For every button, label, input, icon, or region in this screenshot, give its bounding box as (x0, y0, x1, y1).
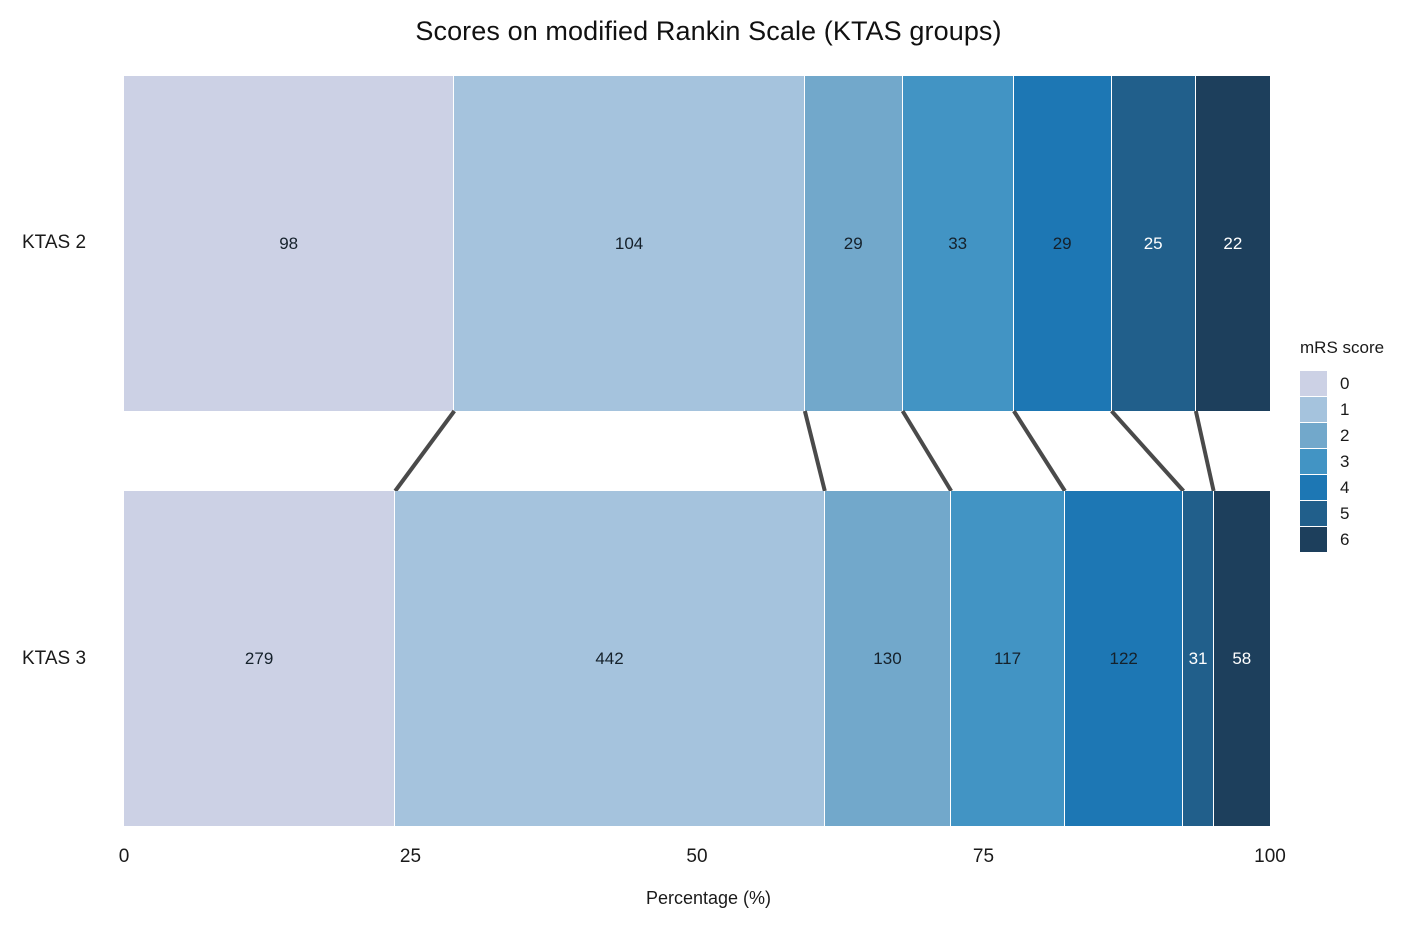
plot-area: 981042933292522 2794421301171223158 (124, 76, 1270, 842)
stacked-bar-ktas3: 2794421301171223158 (124, 491, 1270, 826)
connector-line (395, 411, 454, 491)
bar-segment[interactable]: 22 (1196, 76, 1270, 411)
connector-line (903, 411, 952, 491)
legend-label: 2 (1340, 427, 1349, 444)
chart-title: Scores on modified Rankin Scale (KTAS gr… (0, 16, 1417, 47)
stacked-bar-ktas2: 981042933292522 (124, 76, 1270, 411)
bar-segment-value: 122 (1109, 650, 1137, 667)
bar-segment[interactable]: 442 (395, 491, 825, 826)
legend-swatch (1300, 501, 1327, 526)
bar-segment-value: 58 (1232, 650, 1251, 667)
legend-item[interactable]: 0 (1300, 370, 1410, 396)
connector-line (1196, 411, 1214, 491)
legend-swatch (1300, 423, 1327, 448)
bar-segment-value: 98 (279, 235, 298, 252)
legend-label: 0 (1340, 375, 1349, 392)
legend: mRS score 0123456 (1300, 338, 1410, 552)
bar-segment[interactable]: 29 (805, 76, 903, 411)
x-tick-label: 25 (400, 846, 421, 868)
bar-segment[interactable]: 33 (903, 76, 1014, 411)
legend-items: 0123456 (1300, 370, 1410, 552)
bar-segment[interactable]: 117 (951, 491, 1065, 826)
legend-label: 4 (1340, 479, 1349, 496)
bar-segment[interactable]: 130 (825, 491, 951, 826)
legend-swatch (1300, 475, 1327, 500)
bar-segment-value: 117 (994, 650, 1021, 667)
chart-container: Scores on modified Rankin Scale (KTAS gr… (0, 0, 1417, 927)
bar-segment-value: 25 (1144, 235, 1163, 252)
bar-segment-value: 104 (615, 235, 643, 252)
bar-segment-value: 130 (873, 650, 901, 667)
legend-swatch (1300, 527, 1327, 552)
alluvium-connectors (124, 411, 1270, 491)
bar-segment-value: 442 (595, 650, 623, 667)
legend-item[interactable]: 4 (1300, 474, 1410, 500)
legend-label: 6 (1340, 531, 1349, 548)
legend-swatch (1300, 397, 1327, 422)
legend-title: mRS score (1300, 338, 1410, 358)
bar-segment-value: 279 (245, 650, 273, 667)
bar-segment[interactable]: 29 (1014, 76, 1112, 411)
bar-segment-value: 22 (1223, 235, 1242, 252)
legend-label: 3 (1340, 453, 1349, 470)
legend-swatch (1300, 371, 1327, 396)
bar-segment[interactable]: 104 (454, 76, 805, 411)
y-axis-label-ktas3: KTAS 3 (22, 648, 86, 670)
bar-segment-value: 31 (1189, 650, 1208, 667)
connector-line (1014, 411, 1065, 491)
bar-segment[interactable]: 25 (1112, 76, 1196, 411)
bar-segment[interactable]: 58 (1214, 491, 1270, 826)
bar-segment[interactable]: 31 (1183, 491, 1213, 826)
connector-line (1112, 411, 1184, 491)
y-axis-label-ktas2: KTAS 2 (22, 232, 86, 254)
legend-label: 5 (1340, 505, 1349, 522)
bar-segment[interactable]: 98 (124, 76, 454, 411)
legend-swatch (1300, 449, 1327, 474)
x-axis-title: Percentage (%) (0, 888, 1417, 909)
bar-segment-value: 29 (1053, 235, 1072, 252)
legend-item[interactable]: 1 (1300, 396, 1410, 422)
legend-item[interactable]: 5 (1300, 500, 1410, 526)
bar-segment-value: 29 (844, 235, 863, 252)
bar-segment[interactable]: 279 (124, 491, 395, 826)
x-tick-label: 50 (686, 846, 707, 868)
legend-label: 1 (1340, 401, 1349, 418)
bar-segment-value: 33 (948, 235, 967, 252)
x-tick-label: 0 (119, 846, 130, 868)
bar-segment[interactable]: 122 (1065, 491, 1184, 826)
legend-item[interactable]: 3 (1300, 448, 1410, 474)
legend-item[interactable]: 6 (1300, 526, 1410, 552)
x-tick-label: 100 (1254, 846, 1286, 868)
legend-item[interactable]: 2 (1300, 422, 1410, 448)
connector-line (805, 411, 825, 491)
x-tick-label: 75 (973, 846, 994, 868)
